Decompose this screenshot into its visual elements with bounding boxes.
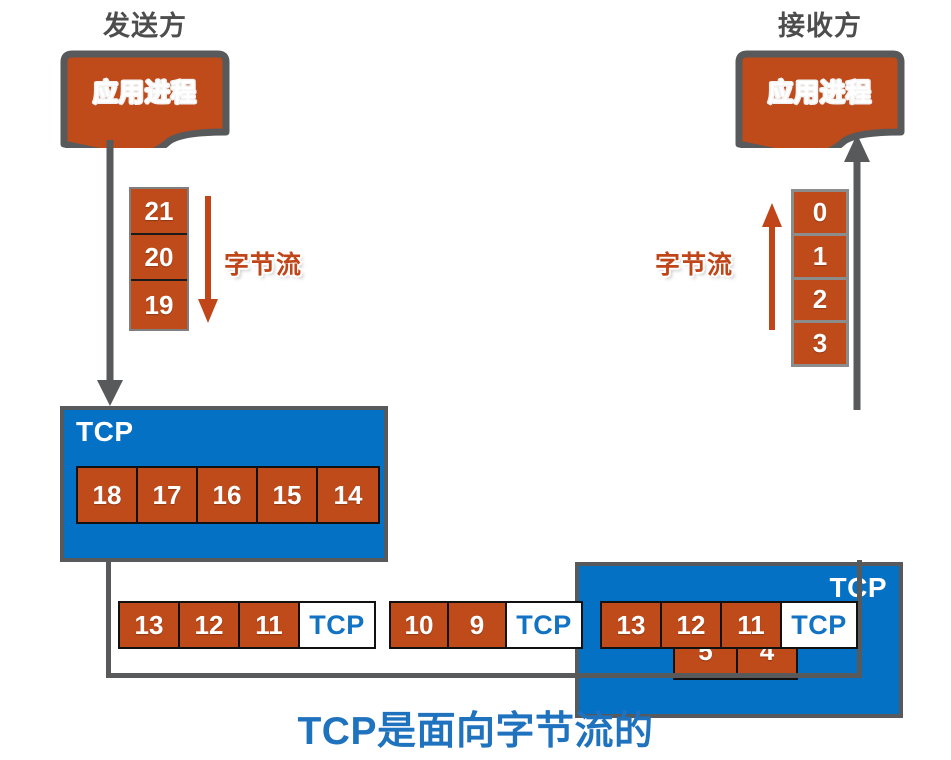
receiver-byte-stream-column: 0 1 2 3 bbox=[791, 189, 849, 367]
buffer-cell: 18 bbox=[78, 468, 138, 522]
sender-tcp-buffer: 18 17 16 15 14 bbox=[76, 466, 380, 524]
segment: 10 9 TCP bbox=[389, 601, 583, 649]
receiver-stream-label: 字节流 bbox=[655, 245, 733, 281]
receiver-caption: 接收方 bbox=[735, 4, 905, 43]
diagram-title: TCP是面向字节流的 bbox=[0, 700, 951, 756]
process-shape-icon bbox=[60, 48, 230, 148]
buffer-cell: 17 bbox=[138, 468, 198, 522]
segment-byte: 12 bbox=[662, 603, 722, 647]
segment-byte: 11 bbox=[722, 603, 782, 647]
segment-byte: 11 bbox=[240, 603, 300, 647]
process-shape-icon bbox=[735, 48, 905, 148]
receiver-application-process: 应用进程 bbox=[735, 48, 905, 148]
buffer-cell: 14 bbox=[318, 468, 378, 522]
segment-byte: 13 bbox=[120, 603, 180, 647]
sender-application-process: 应用进程 bbox=[60, 48, 230, 148]
tcp-byte-stream-diagram: 发送方 应用进程 21 20 19 字节流 TCP 18 17 16 15 bbox=[0, 0, 951, 760]
segment-byte: 9 bbox=[449, 603, 507, 647]
buffer-cell: 15 bbox=[258, 468, 318, 522]
segment: 13 12 11 TCP bbox=[118, 601, 376, 649]
segment-header: TCP bbox=[782, 603, 856, 647]
sender-byte-stream-column: 21 20 19 bbox=[129, 187, 189, 331]
sender-stream-label: 字节流 bbox=[224, 245, 302, 281]
byte-cell: 1 bbox=[794, 236, 846, 277]
byte-cell: 20 bbox=[131, 235, 187, 281]
receiver-byte-stream-arrow bbox=[760, 202, 784, 330]
byte-cell: 19 bbox=[131, 281, 187, 329]
sender-tcp-box: TCP 18 17 16 15 14 bbox=[60, 406, 388, 562]
byte-cell: 2 bbox=[794, 280, 846, 321]
segment: 13 12 11 TCP bbox=[600, 601, 858, 649]
byte-cell: 3 bbox=[794, 323, 846, 364]
buffer-cell: 16 bbox=[198, 468, 258, 522]
sender-byte-stream-arrow bbox=[196, 196, 220, 324]
byte-cell: 0 bbox=[794, 192, 846, 233]
segment-byte: 12 bbox=[180, 603, 240, 647]
segment-byte: 13 bbox=[602, 603, 662, 647]
segment-byte: 10 bbox=[391, 603, 449, 647]
sender-tcp-title: TCP bbox=[76, 416, 134, 448]
segment-header: TCP bbox=[507, 603, 581, 647]
segment-header: TCP bbox=[300, 603, 374, 647]
sender-caption: 发送方 bbox=[60, 4, 230, 43]
byte-cell: 21 bbox=[131, 189, 187, 235]
sender-downward-flow-arrow bbox=[95, 140, 125, 408]
